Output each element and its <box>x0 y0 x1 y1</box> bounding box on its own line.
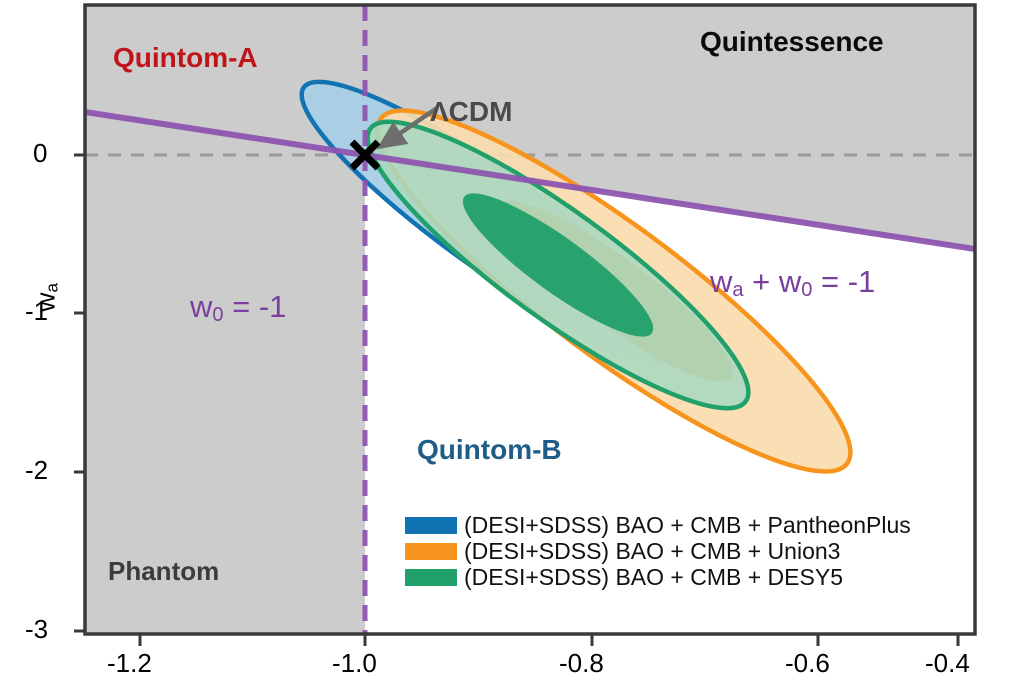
y-axis-label-sub: a <box>43 283 62 292</box>
x-tick-label-1: -1.0 <box>332 648 377 679</box>
legend-swatch-pantheonplus <box>405 517 457 534</box>
legend-swatch-union3 <box>405 543 457 560</box>
label-quintom-b: Quintom-B <box>417 434 562 466</box>
legend-item[interactable]: (DESI+SDSS) BAO + CMB + DESY5 <box>405 564 911 590</box>
legend-swatch-desy5 <box>405 569 457 586</box>
label-quintessence: Quintessence <box>700 26 884 58</box>
waw0-wa-main: w <box>710 264 732 299</box>
y-tick-label-0: 0 <box>33 138 47 169</box>
x-tick-label-2: -0.8 <box>559 648 604 679</box>
x-axis-ticks <box>140 634 958 646</box>
x-tick-label-3: -0.6 <box>785 648 830 679</box>
w0-line-tail: = -1 <box>224 289 287 324</box>
legend-label-union3: (DESI+SDSS) BAO + CMB + Union3 <box>464 538 840 564</box>
legend: (DESI+SDSS) BAO + CMB + PantheonPlus (DE… <box>405 512 911 590</box>
y-tick-label-2: -2 <box>25 455 48 486</box>
w0-line-main: w <box>190 289 212 324</box>
y-tick-label-3: -3 <box>25 614 48 645</box>
waw0-tail: = -1 <box>812 264 875 299</box>
waw0-w0-sub: 0 <box>801 279 812 301</box>
x-tick-label-4: -0.4 <box>925 648 970 679</box>
figure-root: wa 0 -1 -2 -3 -1.2 -1.0 -0.8 -0.6 -0.4 Q… <box>0 0 1025 683</box>
label-phantom: Phantom <box>108 556 219 587</box>
label-lcdm: ΛCDM <box>430 96 512 128</box>
legend-item[interactable]: (DESI+SDSS) BAO + CMB + Union3 <box>405 538 911 564</box>
waw0-wa-sub: a <box>732 279 743 301</box>
waw0-mid: + w <box>744 264 802 299</box>
x-tick-label-0: -1.2 <box>107 648 152 679</box>
contour-plot-figure: wa 0 -1 -2 -3 -1.2 -1.0 -0.8 -0.6 -0.4 Q… <box>0 0 1025 683</box>
legend-label-desy5: (DESI+SDSS) BAO + CMB + DESY5 <box>464 564 843 590</box>
label-wa-plus-w0-equals-minus-one: wa + w0 = -1 <box>710 264 875 300</box>
legend-label-pantheonplus: (DESI+SDSS) BAO + CMB + PantheonPlus <box>464 512 911 538</box>
y-tick-label-1: -1 <box>25 296 48 327</box>
w0-line-sub: 0 <box>212 304 223 326</box>
legend-item[interactable]: (DESI+SDSS) BAO + CMB + PantheonPlus <box>405 512 911 538</box>
label-w0-equals-minus-one: w0 = -1 <box>190 289 286 325</box>
label-quintom-a: Quintom-A <box>113 42 258 74</box>
